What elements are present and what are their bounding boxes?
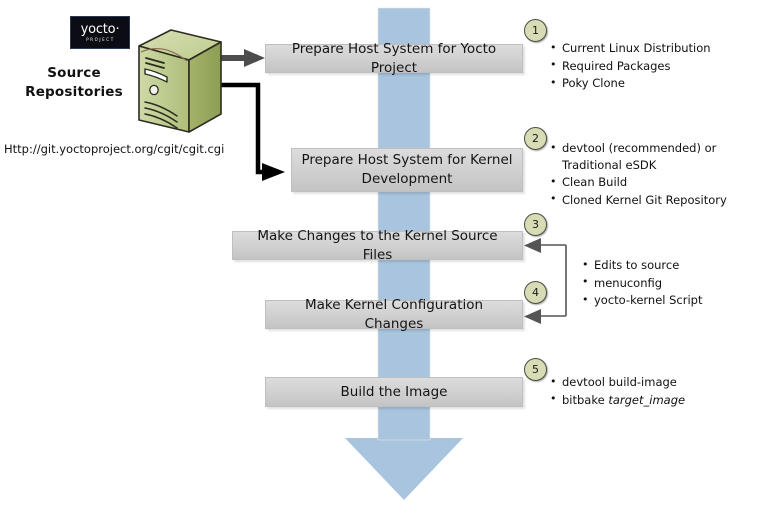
process-box-step-2[interactable]: Prepare Host System for Kernel Developme… <box>291 148 523 192</box>
notes-step-1: Current Linux Distribution Required Pack… <box>550 40 760 93</box>
process-box-step-5[interactable]: Build the Image <box>265 377 523 407</box>
logo-subtext: PROJECT <box>86 38 114 42</box>
process-box-step-3[interactable]: Make Changes to the Kernel Source Files <box>232 231 523 260</box>
notes-step-2: devtool (recommended) or Traditional eSD… <box>550 140 762 209</box>
source-repositories-label: Source Repositories <box>14 64 134 102</box>
process-box-step-4-label: Make Kernel Configuration Changes <box>274 296 514 334</box>
step-badge-1: 1 <box>524 19 547 42</box>
repository-url: Http://git.yoctoproject.org/cgit/cgit.cg… <box>4 142 234 156</box>
list-item: devtool build-image <box>550 374 750 391</box>
list-item: Clean Build <box>550 174 762 191</box>
step-badge-3: 3 <box>524 213 547 236</box>
step-badge-4: 4 <box>524 281 547 304</box>
source-repositories-label-line2: Repositories <box>14 83 134 102</box>
notes-step-5: devtool build-image bitbake target_image <box>550 374 750 409</box>
bitbake-command-prefix: bitbake <box>562 393 608 407</box>
list-item: Edits to source <box>582 257 762 274</box>
bitbake-target-image-argument: target_image <box>608 393 685 407</box>
list-item: Poky Clone <box>550 75 760 92</box>
list-item: yocto-kernel Script <box>582 292 762 309</box>
yocto-kernel-development-flow-diagram: yocto· PROJECT Source Repositories Http:… <box>0 0 769 517</box>
yocto-project-logo: yocto· PROJECT <box>70 16 130 49</box>
step-badge-2: 2 <box>524 127 547 150</box>
list-item: Current Linux Distribution <box>550 40 760 57</box>
logo-wordmark: yocto· <box>81 23 120 36</box>
source-repositories-label-line1: Source <box>14 64 134 83</box>
list-item: Required Packages <box>550 58 760 75</box>
list-item: bitbake target_image <box>550 392 750 409</box>
connector-server-to-step1 <box>221 49 265 67</box>
list-item: devtool (recommended) or Traditional eSD… <box>550 140 762 173</box>
connector-server-to-step2 <box>221 85 285 181</box>
process-box-step-4[interactable]: Make Kernel Configuration Changes <box>265 300 523 329</box>
list-item: menuconfig <box>582 275 762 292</box>
process-box-step-1-label: Prepare Host System for Yocto Project <box>274 40 514 78</box>
process-box-step-2-label: Prepare Host System for Kernel Developme… <box>300 151 514 189</box>
notes-steps-3-and-4: Edits to source menuconfig yocto-kernel … <box>582 257 762 310</box>
step-badge-5: 5 <box>524 358 547 381</box>
process-box-step-1[interactable]: Prepare Host System for Yocto Project <box>265 44 523 73</box>
process-box-step-5-label: Build the Image <box>341 383 448 402</box>
process-box-step-3-label: Make Changes to the Kernel Source Files <box>241 227 514 265</box>
list-item: Cloned Kernel Git Repository <box>550 192 762 209</box>
server-tower-icon <box>133 28 225 138</box>
